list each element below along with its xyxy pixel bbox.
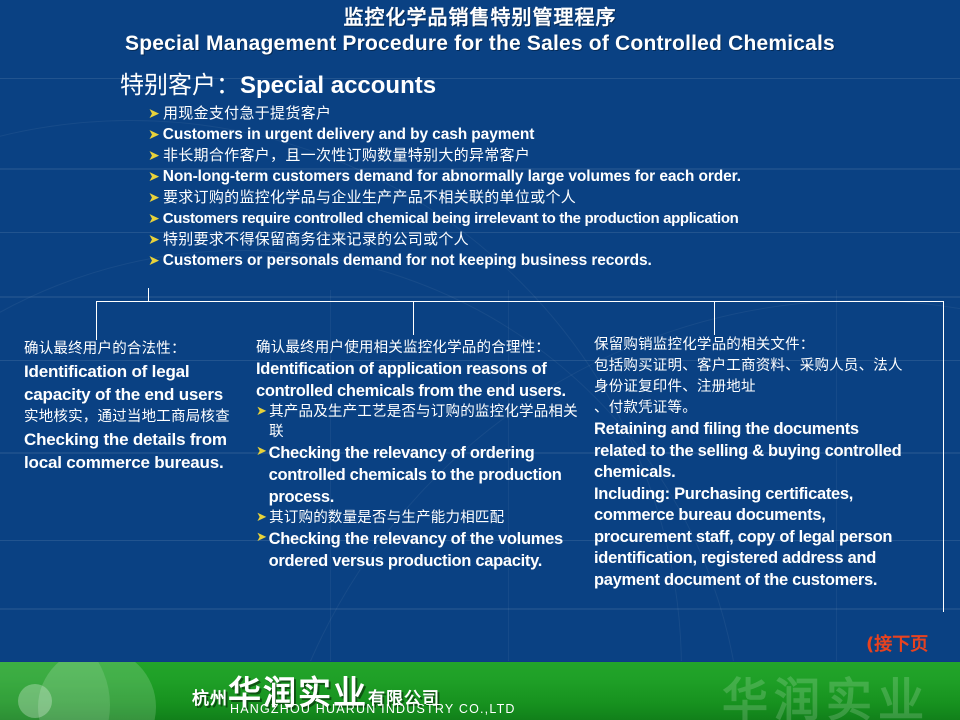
bullet-arrow-icon: ➤ xyxy=(148,209,160,229)
section-heading: 特别客户：Special accounts xyxy=(120,70,436,101)
column-paragraph: 、付款凭证等。 xyxy=(594,398,914,419)
bullet-item: ➤Customers or personals demand for not k… xyxy=(148,251,960,271)
column-paragraph: 确认最终用户使用相关监控化学品的合理性： xyxy=(256,338,581,358)
column-paragraph: Retaining and filing the documents relat… xyxy=(594,419,914,484)
column-legal-capacity: 确认最终用户的合法性：Identification of legal capac… xyxy=(24,338,239,474)
slide-canvas: 监控化学品销售特别管理程序 Special Management Procedu… xyxy=(0,0,960,720)
bullet-arrow-icon: ➤ xyxy=(148,104,160,124)
bullet-text: Customers require controlled chemical be… xyxy=(163,209,739,229)
bullet-text: 非长期合作客户，且一次性订购数量特别大的异常客户 xyxy=(163,146,530,165)
title-english: Special Management Procedure for the Sal… xyxy=(0,30,960,58)
bullet-text: Non-long-term customers demand for abnor… xyxy=(163,167,741,187)
bullet-item: ➤用现金支付急于提货客户 xyxy=(148,104,960,124)
column-paragraph: Identification of application reasons of… xyxy=(256,358,581,402)
bullet-arrow-icon: ➤ xyxy=(148,188,160,208)
connector-branch-left xyxy=(96,301,97,340)
column-paragraph: ➤Checking the relevancy of ordering cont… xyxy=(256,442,581,508)
footer-logo-banner: 华润实业 杭州华润实业有限公司 HANGZHOU HUARUN INDUSTRY… xyxy=(0,661,960,720)
connector-stem xyxy=(148,288,149,301)
column-text: Checking the relevancy of the volumes or… xyxy=(269,528,581,572)
column-application-reasons: 确认最终用户使用相关监控化学品的合理性：Identification of ap… xyxy=(256,338,581,572)
column-text: Checking the relevancy of ordering contr… xyxy=(269,442,581,508)
connector-horizontal xyxy=(96,301,944,302)
bullet-item: ➤非长期合作客户，且一次性订购数量特别大的异常客户 xyxy=(148,146,960,166)
column-paragraph: ➤其产品及生产工艺是否与订购的监控化学品相关联 xyxy=(256,402,581,442)
bullet-arrow-icon: ➤ xyxy=(148,251,160,271)
bullet-item: ➤特别要求不得保留商务往来记录的公司或个人 xyxy=(148,230,960,250)
bullet-arrow-icon: ➤ xyxy=(256,528,267,548)
connector-branch-far-right xyxy=(943,301,944,612)
column-paragraph: ➤其订购的数量是否与生产能力相匹配 xyxy=(256,508,581,528)
title-chinese: 监控化学品销售特别管理程序 xyxy=(0,4,960,30)
column-paragraph: 确认最终用户的合法性： xyxy=(24,338,239,360)
bullet-text: 用现金支付急于提货客户 xyxy=(163,104,331,123)
column-paragraph: 保留购销监控化学品的相关文件： xyxy=(594,335,914,356)
bullet-item: ➤要求订购的监控化学品与企业生产产品不相关联的单位或个人 xyxy=(148,188,960,208)
bullet-arrow-icon: ➤ xyxy=(148,230,160,250)
column-paragraph: Including: Purchasing certificates, comm… xyxy=(594,484,914,592)
column-document-retention: 保留购销监控化学品的相关文件：包括购买证明、客户工商资料、采购人员、法人身份证复… xyxy=(594,335,914,591)
bullet-text: Customers or personals demand for not ke… xyxy=(163,251,652,271)
connector-branch-right xyxy=(714,301,715,335)
connector-branch-middle xyxy=(413,301,414,335)
bullet-text: 要求订购的监控化学品与企业生产产品不相关联的单位或个人 xyxy=(163,188,576,207)
column-text: 其产品及生产工艺是否与订购的监控化学品相关联 xyxy=(269,402,581,442)
heading-chinese: 特别客户： xyxy=(120,71,240,99)
heading-english: Special accounts xyxy=(240,72,436,99)
bullet-arrow-icon: ➤ xyxy=(256,508,267,528)
bullet-text: 特别要求不得保留商务往来记录的公司或个人 xyxy=(163,230,469,249)
column-paragraph: 实地核实，通过当地工商局核查 xyxy=(24,406,239,428)
bullet-item: ➤Customers require controlled chemical b… xyxy=(148,209,960,229)
column-paragraph: Identification of legal capacity of the … xyxy=(24,360,239,406)
bullet-arrow-icon: ➤ xyxy=(256,402,267,422)
footer-decoration xyxy=(18,684,52,718)
footer-city-label: 杭州 xyxy=(192,689,228,709)
bullet-text: Customers in urgent delivery and by cash… xyxy=(163,125,535,145)
footer-company-name-en: HANGZHOU HUARUN INDUSTRY CO.,LTD xyxy=(230,702,516,716)
bullet-list: ➤用现金支付急于提货客户➤Customers in urgent deliver… xyxy=(148,104,960,272)
column-paragraph: Checking the details from local commerce… xyxy=(24,428,239,474)
bullet-item: ➤Non-long-term customers demand for abno… xyxy=(148,167,960,187)
bullet-arrow-icon: ➤ xyxy=(256,442,267,462)
column-paragraph: ➤Checking the relevancy of the volumes o… xyxy=(256,528,581,572)
bullet-item: ➤Customers in urgent delivery and by cas… xyxy=(148,125,960,145)
slide-title: 监控化学品销售特别管理程序 Special Management Procedu… xyxy=(0,4,960,58)
continuation-note: (接下页 xyxy=(866,630,928,656)
column-paragraph: 包括购买证明、客户工商资料、采购人员、法人身份证复印件、注册地址 xyxy=(594,356,914,398)
footer-watermark: 华润实业 xyxy=(722,664,930,720)
bullet-arrow-icon: ➤ xyxy=(148,146,160,166)
footer-decoration xyxy=(38,661,156,720)
bullet-arrow-icon: ➤ xyxy=(148,167,160,187)
column-text: 其订购的数量是否与生产能力相匹配 xyxy=(269,508,504,528)
bullet-arrow-icon: ➤ xyxy=(148,125,160,145)
